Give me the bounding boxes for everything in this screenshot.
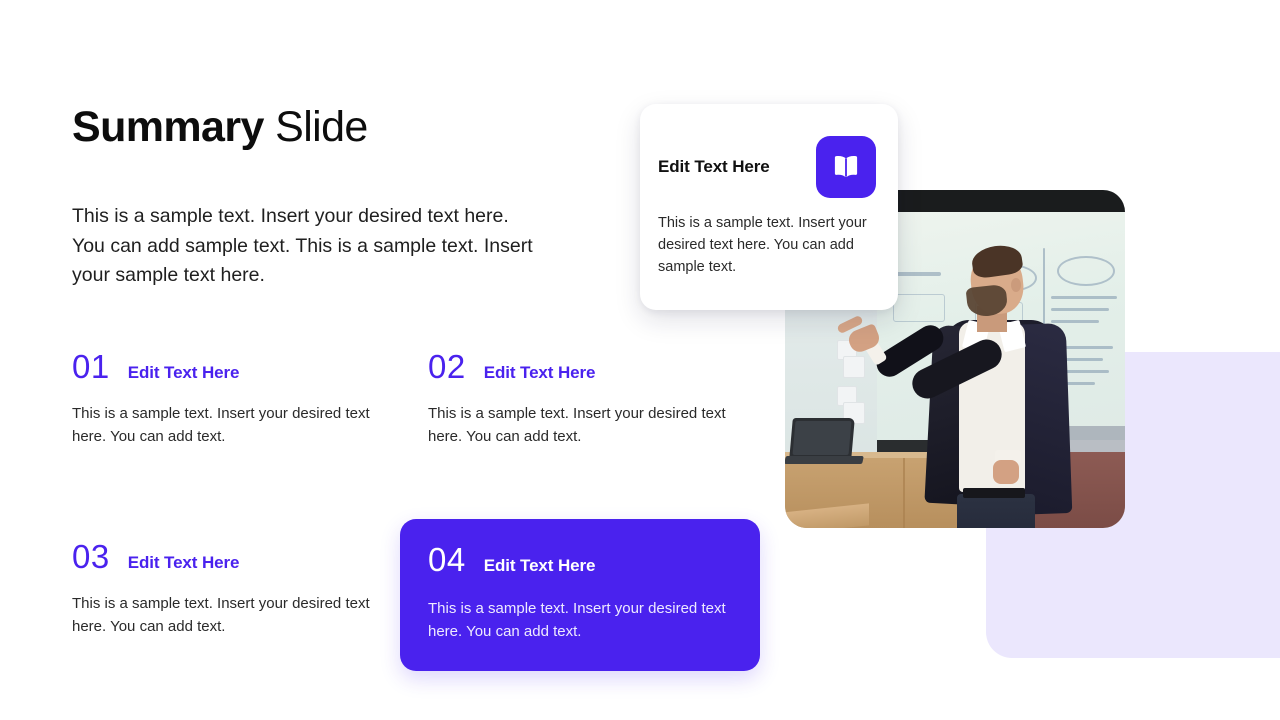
list-item[interactable]: 01 Edit Text Here This is a sample text.… <box>72 350 382 448</box>
list-item-label: Edit Text Here <box>484 556 596 576</box>
laptop-base <box>785 456 864 464</box>
list-item-number: 02 <box>428 350 466 383</box>
list-item-label: Edit Text Here <box>128 363 240 383</box>
summary-slide: Edit Text Here This is a sample text. In… <box>0 0 1280 720</box>
list-item-description: This is a sample text. Insert your desir… <box>428 403 728 448</box>
info-card-body: This is a sample text. Insert your desir… <box>658 212 876 278</box>
page-title: Summary Slide <box>72 104 368 151</box>
info-card-title: Edit Text Here <box>658 157 770 177</box>
list-item-header: 01 Edit Text Here <box>72 350 382 383</box>
list-item-number: 01 <box>72 350 110 383</box>
page-title-bold: Summary <box>72 103 264 151</box>
list-item-description: This is a sample text. Insert your desir… <box>72 403 372 448</box>
list-item-highlighted[interactable]: 04 Edit Text Here This is a sample text.… <box>400 519 760 671</box>
list-item[interactable]: 03 Edit Text Here This is a sample text.… <box>72 540 382 638</box>
list-item-description: This is a sample text. Insert your desir… <box>428 598 728 643</box>
intro-paragraph: This is a sample text. Insert your desir… <box>72 202 542 291</box>
list-item-header: 04 Edit Text Here <box>428 543 732 576</box>
list-item[interactable]: 02 Edit Text Here This is a sample text.… <box>428 350 738 448</box>
presenter-figure <box>915 242 1115 528</box>
list-item-number: 04 <box>428 543 466 576</box>
info-card[interactable]: Edit Text Here This is a sample text. In… <box>640 104 898 310</box>
list-item-header: 02 Edit Text Here <box>428 350 738 383</box>
list-item-label: Edit Text Here <box>128 553 240 573</box>
list-item-description: This is a sample text. Insert your desir… <box>72 593 372 638</box>
laptop-screen <box>793 421 852 455</box>
list-item-header: 03 Edit Text Here <box>72 540 382 573</box>
desk-seam <box>903 458 905 528</box>
page-title-light: Slide <box>264 103 368 151</box>
info-card-header: Edit Text Here <box>658 136 876 198</box>
list-item-label: Edit Text Here <box>484 363 596 383</box>
list-item-number: 03 <box>72 540 110 573</box>
open-book-icon[interactable] <box>816 136 876 198</box>
sticky-note <box>843 356 865 378</box>
